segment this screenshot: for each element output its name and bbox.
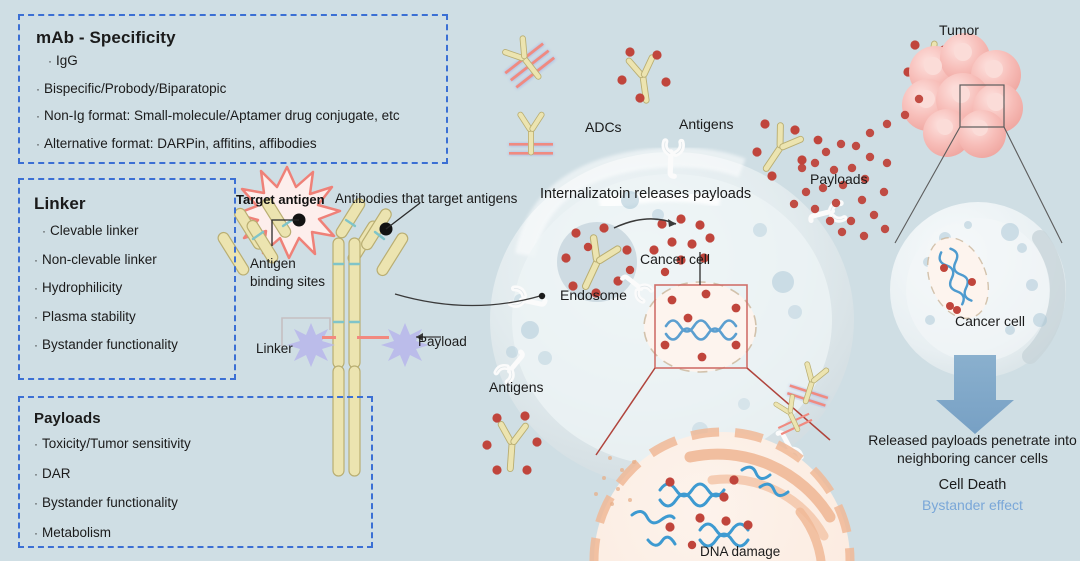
item-label: Non-Ig format: Small-molecule/Aptamer dr… [44,108,400,123]
label-target-antigen: Target antigen [236,192,325,208]
antigen-binding-line1: Antigen [250,256,296,271]
label-cancer-cell-center: Cancer cell [640,251,710,269]
item-label: Bystander functionality [42,337,178,352]
list-item: ·Metabolism [34,526,371,540]
panel-linker-title: Linker [34,194,234,214]
list-item: ·Non-Ig format: Small-molecule/Aptamer d… [36,109,446,123]
item-label: Hydrophilicity [42,280,122,295]
list-item: ·Bystander functionality [34,496,371,510]
panel-payloads: Payloads ·Toxicity/Tumor sensitivity ·DA… [18,396,373,548]
released-line1: Released payloads penetrate into [868,432,1077,448]
bullet: · [34,281,42,295]
bullet: · [36,137,44,151]
antigen-binding-line2: binding sites [250,274,325,289]
label-payloads-right: Payloads [810,171,868,189]
label-antigens-left: Antigens [489,379,543,397]
label-endosome: Endosome [560,287,627,305]
panel-mab-title: mAb - Specificity [36,28,446,48]
panel-mab-specificity: mAb - Specificity ·IgG ·Bispecific/Probo… [18,14,448,164]
panel-linker: Linker ·Clevable linker ·Non-clevable li… [18,178,236,380]
list-item: ·Plasma stability [34,310,234,324]
bullet: · [36,82,44,96]
linker-bar-right [357,336,389,339]
target-antigen-starburst [236,167,340,258]
label-tumor: Tumor [939,22,979,40]
item-label: Bispecific/Probody/Biparatopic [44,81,226,96]
panel-payloads-list: ·Toxicity/Tumor sensitivity ·DAR ·Bystan… [34,437,371,539]
bullet: · [34,526,42,540]
list-item: ·IgG [36,54,446,68]
list-item: ·Hydrophilicity [34,281,234,295]
right-cancer-cell [890,202,1066,378]
panel-mab-list: ·IgG ·Bispecific/Probody/Biparatopic ·No… [36,54,446,150]
label-internalization: Internalizatoin releases payloads [540,185,751,203]
list-item: ·Non-clevable linker [34,253,234,267]
list-item: ·Toxicity/Tumor sensitivity [34,437,371,451]
bullet: · [36,109,44,123]
nucleus-region [644,282,756,372]
item-label: Metabolism [42,525,111,540]
released-line2: neighboring cancer cells [897,450,1048,466]
bullet: · [34,437,42,451]
item-label: Plasma stability [42,309,136,324]
item-label: IgG [56,53,78,68]
payload-star-left [287,323,335,367]
panel-linker-list: ·Clevable linker ·Non-clevable linker ·H… [34,224,234,352]
list-item: ·Clevable linker [34,224,234,238]
item-label: Non-clevable linker [42,252,157,267]
item-label: Clevable linker [50,223,139,238]
label-bystander-effect: Bystander effect [860,497,1080,515]
item-label: Toxicity/Tumor sensitivity [42,436,191,451]
item-label: Alternative format: DARPin, affitins, af… [44,136,317,151]
label-linker: Linker [256,341,293,358]
bullet: · [34,496,42,510]
bullet: · [34,310,42,324]
list-item: ·DAR [34,467,371,481]
label-antigen-binding-sites: Antigen binding sites [250,255,325,291]
label-payload: Payload [418,334,467,351]
label-adcs: ADCs [585,119,622,137]
item-label: DAR [42,466,71,481]
list-item: ·Bispecific/Probody/Biparatopic [36,82,446,96]
bullet: · [42,224,50,238]
list-item: ·Bystander functionality [34,338,234,352]
list-item: ·Alternative format: DARPin, affitins, a… [36,137,446,151]
label-antibodies-target-antigens: Antibodies that target antigens [335,191,517,208]
linker-bar-left [322,336,336,339]
bullet: · [48,54,56,68]
panel-payloads-title: Payloads [34,410,371,427]
item-label: Bystander functionality [42,495,178,510]
label-dna-damage: DNA damage [700,544,780,561]
bullet: · [34,253,42,267]
bullet: · [34,338,42,352]
figure-canvas: mAb - Specificity ·IgG ·Bispecific/Probo… [0,0,1080,560]
label-released-payloads: Released payloads penetrate into neighbo… [860,431,1080,467]
bullet: · [34,467,42,481]
label-cancer-cell-right: Cancer cell [955,313,1025,331]
label-antigens-top: Antigens [679,116,733,134]
label-cell-death: Cell Death [860,476,1080,494]
